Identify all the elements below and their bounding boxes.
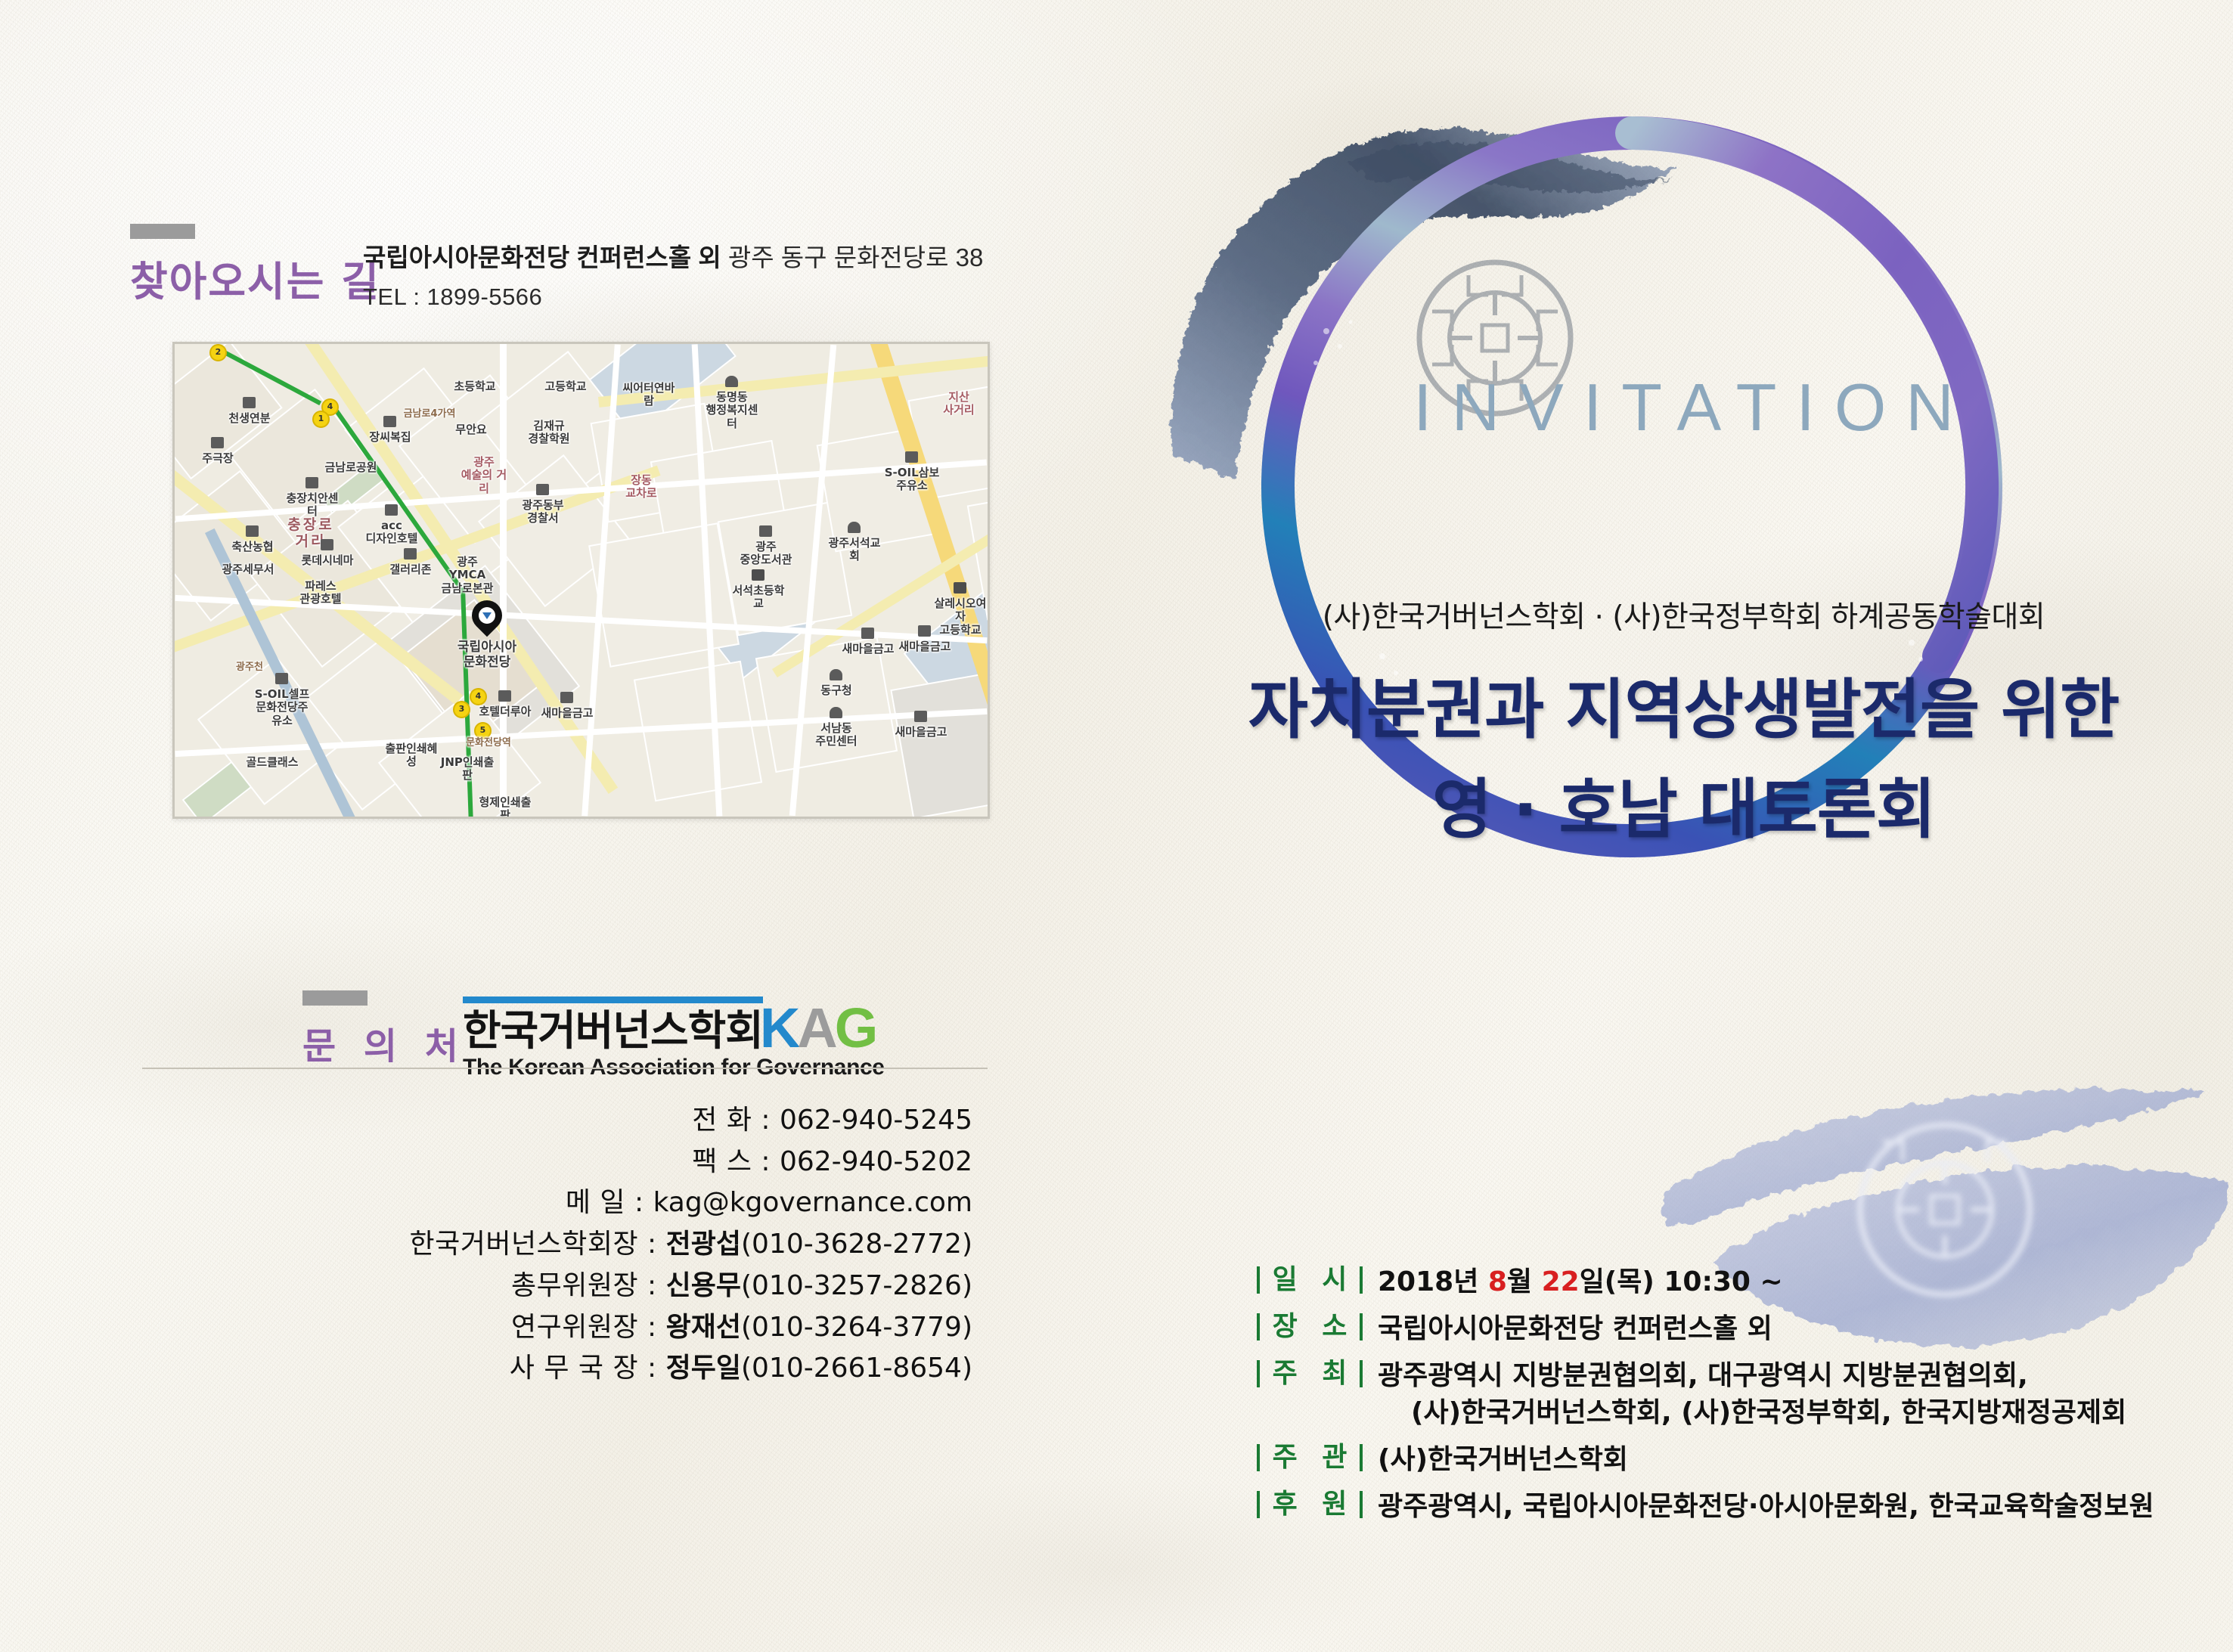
map-poi-movie-icon bbox=[321, 539, 333, 550]
event-info-value: 2018년 8월 22일(목) 10:30 ~ bbox=[1363, 1264, 2225, 1300]
map-label: 형제인쇄출판 bbox=[477, 796, 533, 819]
map-label: 광주 예술의 거리 bbox=[456, 456, 512, 495]
contact-row-label: 한국거버넌스학회장 : bbox=[409, 1229, 665, 1260]
contact-row: 사 무 국 장 : 정두일(010-2661-8654) bbox=[144, 1348, 989, 1390]
map-canvas: 2 4 1 3 4 5 천생연분주극장충장치안센터충장로거리축산농협광주세무서롯… bbox=[175, 344, 988, 817]
event-info-text: 국립아시아문화전당 컨퍼런스홀 외 bbox=[1378, 1313, 1772, 1344]
contact-row: 메 일 : kag@kgovernance.com bbox=[144, 1182, 989, 1224]
map-label: 고등학교 bbox=[538, 380, 594, 393]
event-info-value: (사)한국거버넌스학회 bbox=[1363, 1442, 2225, 1478]
map-label: 초등학교 bbox=[447, 380, 503, 393]
map-label: 새마을금고 bbox=[897, 640, 953, 653]
contact-list: 전 화 : 062-940-5245팩 스 : 062-940-5202메 일 … bbox=[144, 1100, 989, 1390]
kag-letter-a: A bbox=[797, 996, 834, 1059]
map-poi-gas-icon bbox=[905, 451, 918, 463]
dash-rule-icon bbox=[302, 990, 368, 1006]
map-poi-bank-icon bbox=[918, 625, 931, 637]
event-info-label: 주 관 bbox=[1257, 1442, 1363, 1474]
map-label: 서석초등학교 bbox=[730, 584, 786, 611]
contact-divider bbox=[142, 1068, 988, 1069]
contact-row-value: (010-3628-2772) bbox=[741, 1229, 972, 1260]
contact-row: 팩 스 : 062-940-5202 bbox=[144, 1142, 989, 1183]
contact-row: 총무위원장 : 신용무(010-3257-2826) bbox=[144, 1266, 989, 1307]
contact-row-value: (010-3257-2826) bbox=[741, 1270, 972, 1301]
kag-logo-mark: KAG bbox=[760, 1005, 875, 1052]
event-info-row: 후 원광주광역시, 국립아시아문화전당·아시아문화원, 한국교육학술정보원 bbox=[1257, 1489, 2225, 1525]
contact-row-value: kag@kgovernance.com bbox=[653, 1187, 972, 1218]
event-info-value: 국립아시아문화전당 컨퍼런스홀 외 bbox=[1363, 1311, 2225, 1347]
map-label: 광주동부 경찰서 bbox=[515, 499, 571, 525]
map-poi-gov-icon bbox=[725, 376, 738, 387]
kag-logo-korean: 한국거버넌스학회 bbox=[463, 996, 763, 1052]
map-label: 장동 교차로 bbox=[613, 474, 669, 501]
map-poi-gov-icon bbox=[830, 707, 842, 718]
map-poi-bank-icon bbox=[560, 692, 573, 703]
contact-row-label: 연구위원장 : bbox=[511, 1312, 666, 1343]
map-poi-police-icon bbox=[536, 484, 549, 495]
map-label: 금남로공원 bbox=[323, 461, 379, 474]
contact-section-header: 문 의 처 bbox=[302, 990, 466, 1069]
dash-rule-icon bbox=[130, 224, 195, 239]
map-poi-cup-icon bbox=[243, 397, 256, 408]
event-title-line-2: 영 · 호남 대토론회 bbox=[1134, 756, 2233, 851]
map-route-node: 4 bbox=[470, 688, 487, 705]
map-label: 광주세무서 bbox=[220, 563, 276, 576]
event-info-text: 광주광역시 지방분권협의회, 대구광역시 지방분권협의회, bbox=[1378, 1360, 2028, 1391]
event-info-row: 주 관(사)한국거버넌스학회 bbox=[1257, 1442, 2225, 1478]
map-route-node: 1 bbox=[312, 411, 330, 428]
map-label: 갤러리존 bbox=[383, 563, 439, 576]
map-label: 서남동 주민센터 bbox=[808, 722, 864, 749]
map-label: 출판인쇄혜성 bbox=[383, 742, 439, 769]
map-poi-school-icon bbox=[954, 582, 966, 594]
contact-row-name: 전광섭 bbox=[666, 1229, 741, 1260]
contact-row-label: 팩 스 : bbox=[692, 1146, 780, 1177]
map-label: 롯데시네마 bbox=[299, 554, 355, 567]
event-info-value: 광주광역시 지방분권협의회, 대구광역시 지방분권협의회,(사)한국거버넌스학회… bbox=[1363, 1358, 2225, 1430]
map-label: 골드클래스 bbox=[244, 756, 300, 769]
invitation-heading: INVITATION bbox=[1134, 369, 2233, 446]
map-poi-hotel-icon bbox=[498, 690, 511, 702]
map-label: 천생연분 bbox=[222, 412, 278, 425]
venue-address: 광주 동구 문화전당로 38 bbox=[728, 243, 983, 271]
contact-row-name: 왕재선 bbox=[666, 1312, 741, 1343]
map-label: JNP인쇄출판 bbox=[439, 756, 495, 783]
map-poi-book-icon bbox=[759, 525, 772, 537]
map-pin-icon bbox=[472, 600, 502, 641]
event-info-text: 광주광역시, 국립아시아문화전당·아시아문화원, 한국교육학술정보원 bbox=[1378, 1491, 2154, 1522]
map-label: 광주서석교회 bbox=[827, 537, 882, 563]
event-info-row: 일 시2018년 8월 22일(목) 10:30 ~ bbox=[1257, 1264, 2225, 1300]
event-info-row: 주 최광주광역시 지방분권협의회, 대구광역시 지방분권협의회,(사)한국거버넌… bbox=[1257, 1358, 2225, 1430]
event-info-label: 주 최 bbox=[1257, 1358, 1363, 1390]
venue-telephone: TEL : 1899-5566 bbox=[363, 281, 983, 314]
event-info-text: (사)한국거버넌스학회 bbox=[1378, 1444, 1628, 1475]
map-poi-church-icon bbox=[848, 522, 861, 533]
map-poi-hotel-icon bbox=[385, 504, 398, 516]
contact-row-label: 메 일 : bbox=[566, 1187, 653, 1218]
map-label: 장씨복집 bbox=[362, 431, 418, 444]
map-label: S-OIL셀프 문화전당주유소 bbox=[254, 688, 310, 727]
event-info-label: 장 소 bbox=[1257, 1311, 1363, 1343]
contact-row-label: 전 화 : bbox=[692, 1105, 780, 1136]
map-label: 무안요 bbox=[443, 423, 499, 436]
map-label: 김재규 경찰학원 bbox=[521, 420, 577, 446]
map-poi-bank-icon bbox=[914, 711, 927, 722]
map-label: 광주YMCA 금남로본관 bbox=[439, 556, 495, 595]
map-label: acc 디자인호텔 bbox=[364, 519, 420, 546]
event-info-table: 일 시2018년 8월 22일(목) 10:30 ~장 소국립아시아문화전당 컨… bbox=[1257, 1264, 2225, 1536]
contact-row: 한국거버넌스학회장 : 전광섭(010-3628-2772) bbox=[144, 1224, 989, 1266]
map-label: 주극장 bbox=[190, 452, 246, 465]
kag-letter-k: K bbox=[760, 996, 797, 1059]
map-label: 광주 중앙도서관 bbox=[738, 541, 794, 567]
map-label: 새마을금고 bbox=[893, 726, 949, 739]
contact-row-label: 총무위원장 : bbox=[511, 1270, 666, 1301]
map-label: 새마을금고 bbox=[539, 707, 595, 720]
map-label: 문화전당역 bbox=[461, 737, 516, 749]
contact-row: 연구위원장 : 왕재선(010-3264-3779) bbox=[144, 1307, 989, 1349]
contact-row-value: 062-940-5202 bbox=[780, 1146, 972, 1177]
map-label: S-OIL삼보 주유소 bbox=[884, 466, 940, 493]
map-poi-bank-icon bbox=[861, 628, 874, 639]
map-label: 살레시오여자 고등학교 bbox=[932, 597, 988, 637]
location-map[interactable]: 2 4 1 3 4 5 천생연분주극장충장치안센터충장로거리축산농협광주세무서롯… bbox=[172, 342, 990, 819]
event-info-label: 일 시 bbox=[1257, 1264, 1363, 1296]
event-info-accent: 22 bbox=[1542, 1266, 1580, 1297]
map-poi-bank-icon bbox=[246, 525, 259, 537]
contact-section-title: 문 의 처 bbox=[302, 1016, 466, 1069]
map-label: 파레스 관광호텔 bbox=[293, 580, 349, 606]
event-info-text-line2: (사)한국거버넌스학회, (사)한국정부학회, 한국지방재정공제회 bbox=[1378, 1395, 2225, 1431]
map-poi-gas-icon bbox=[275, 673, 288, 684]
map-label: 동구청 bbox=[808, 684, 864, 697]
map-label: 동명동 행정복지센터 bbox=[704, 391, 760, 430]
map-poi-food-icon bbox=[383, 416, 396, 427]
directions-section-title: 찾아오시는 길 bbox=[130, 248, 380, 308]
venue-block: 국립아시아문화전당 컨퍼런스홀 외 광주 동구 문화전당로 38 TEL : 1… bbox=[363, 240, 983, 313]
venue-line: 국립아시아문화전당 컨퍼런스홀 외 광주 동구 문화전당로 38 bbox=[363, 240, 983, 275]
right-panel: INVITATION (사)한국거버넌스학회 · (사)한국정부학회 하계공동학… bbox=[1134, 0, 2233, 1652]
map-label: 충장치안센터 bbox=[284, 492, 340, 519]
venue-name: 국립아시아문화전당 컨퍼런스홀 외 bbox=[363, 243, 721, 271]
map-poi-school-icon bbox=[752, 569, 764, 581]
map-poi-police-icon bbox=[305, 477, 318, 488]
map-label: 광주천 bbox=[222, 662, 278, 673]
event-subtitle: (사)한국거버넌스학회 · (사)한국정부학회 하계공동학술대회 bbox=[1134, 594, 2233, 636]
left-panel: 찾아오시는 길 국립아시아문화전당 컨퍼런스홀 외 광주 동구 문화전당로 38… bbox=[0, 0, 1134, 1652]
contact-row-value: (010-2661-8654) bbox=[741, 1353, 972, 1384]
map-label: 호텔더루아 bbox=[477, 705, 533, 718]
contact-row-value: (010-3264-3779) bbox=[741, 1312, 972, 1343]
map-route-node: 3 bbox=[453, 701, 470, 718]
map-label: 새마을금고 bbox=[840, 643, 896, 656]
map-label: 축산농협 bbox=[225, 541, 281, 553]
map-pin-label: 국립아시아 문화전당 bbox=[430, 640, 544, 670]
event-info-text: 일(목) 10:30 ~ bbox=[1580, 1266, 1783, 1297]
directions-section-header: 찾아오시는 길 bbox=[130, 224, 380, 308]
event-info-label: 후 원 bbox=[1257, 1489, 1363, 1520]
map-poi-cafe-icon bbox=[211, 437, 224, 448]
kag-letter-g: G bbox=[835, 996, 876, 1059]
map-poi-gov-icon bbox=[830, 669, 842, 680]
event-info-accent: 8 bbox=[1488, 1266, 1507, 1297]
event-title-line-1: 자치분권과 지역상생발전을 위한 bbox=[1134, 656, 2233, 751]
contact-row-name: 신용무 bbox=[666, 1270, 741, 1301]
event-info-text: 2018년 bbox=[1378, 1266, 1488, 1297]
contact-row-name: 정두일 bbox=[666, 1353, 741, 1384]
map-label: 지산 사거리 bbox=[931, 391, 987, 417]
contact-row-label: 사 무 국 장 : bbox=[510, 1353, 666, 1384]
contact-row-value: 062-940-5245 bbox=[780, 1105, 972, 1136]
contact-row: 전 화 : 062-940-5245 bbox=[144, 1100, 989, 1142]
event-info-text: 월 bbox=[1507, 1266, 1542, 1297]
event-info-value: 광주광역시, 국립아시아문화전당·아시아문화원, 한국교육학술정보원 bbox=[1363, 1489, 2225, 1525]
map-label: 씨어터연바람 bbox=[621, 382, 677, 408]
map-poi-cup-icon bbox=[404, 548, 417, 559]
map-route-node: 2 bbox=[209, 344, 227, 361]
event-info-row: 장 소국립아시아문화전당 컨퍼런스홀 외 bbox=[1257, 1311, 2225, 1347]
map-label: 금남로4가역 bbox=[402, 408, 457, 420]
